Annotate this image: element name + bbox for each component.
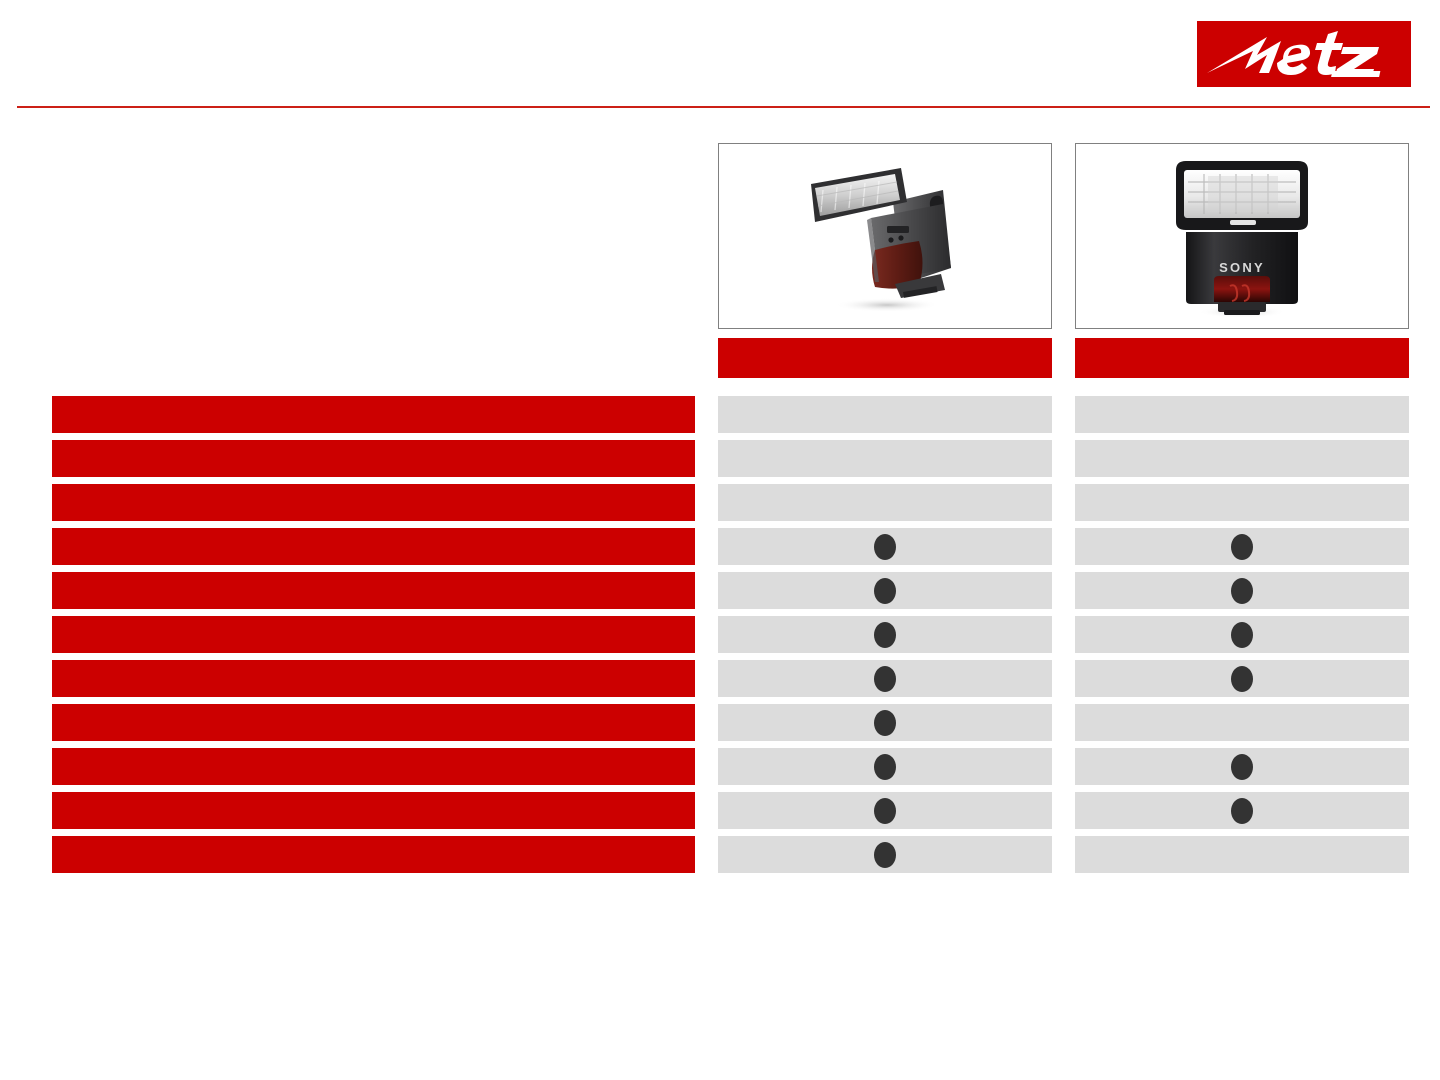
supported-bullet-icon — [874, 798, 896, 824]
supported-bullet-icon — [874, 578, 896, 604]
supported-bullet-icon — [874, 666, 896, 692]
metz-flash-photo — [775, 156, 995, 316]
value-cell — [718, 792, 1052, 829]
value-cell — [1075, 528, 1409, 565]
supported-bullet-icon — [1231, 578, 1253, 604]
value-cell — [1075, 836, 1409, 873]
value-cell — [1075, 660, 1409, 697]
header-divider — [17, 106, 1430, 108]
supported-bullet-icon — [1231, 534, 1253, 560]
value-cell — [718, 660, 1052, 697]
value-cell — [1075, 572, 1409, 609]
value-cell — [1075, 616, 1409, 653]
supported-bullet-icon — [1231, 622, 1253, 648]
value-cell — [718, 704, 1052, 741]
feature-label — [52, 528, 695, 565]
feature-label — [52, 660, 695, 697]
value-cell — [718, 748, 1052, 785]
feature-label — [52, 484, 695, 521]
value-cell — [1075, 704, 1409, 741]
feature-label — [52, 440, 695, 477]
sony-flash-photo: SONY — [1152, 152, 1332, 320]
feature-label — [52, 572, 695, 609]
supported-bullet-icon — [874, 710, 896, 736]
value-cell — [718, 440, 1052, 477]
feature-label — [52, 396, 695, 433]
feature-label — [52, 748, 695, 785]
product-image-frame-1: SONY — [1075, 143, 1409, 329]
value-cell — [1075, 748, 1409, 785]
value-cell — [718, 396, 1052, 433]
product-name-bar-0 — [718, 338, 1052, 378]
value-cell — [718, 836, 1052, 873]
supported-bullet-icon — [1231, 798, 1253, 824]
metz-logo — [1197, 21, 1411, 87]
supported-bullet-icon — [874, 622, 896, 648]
supported-bullet-icon — [874, 842, 896, 868]
value-cell — [718, 572, 1052, 609]
supported-bullet-icon — [874, 754, 896, 780]
product-comparison-table: SONY — [0, 110, 1440, 910]
value-cell — [1075, 792, 1409, 829]
supported-bullet-icon — [874, 534, 896, 560]
product-name-bar-1 — [1075, 338, 1409, 378]
product-image-frame-0 — [718, 143, 1052, 329]
value-cell — [1075, 396, 1409, 433]
value-cell — [1075, 484, 1409, 521]
value-cell — [1075, 440, 1409, 477]
page-header — [0, 0, 1440, 110]
feature-label — [52, 792, 695, 829]
svg-text:SONY: SONY — [1219, 260, 1265, 275]
value-cell — [718, 528, 1052, 565]
value-cell — [718, 484, 1052, 521]
feature-label — [52, 616, 695, 653]
feature-label — [52, 836, 695, 873]
supported-bullet-icon — [1231, 754, 1253, 780]
feature-label — [52, 704, 695, 741]
value-cell — [718, 616, 1052, 653]
supported-bullet-icon — [1231, 666, 1253, 692]
